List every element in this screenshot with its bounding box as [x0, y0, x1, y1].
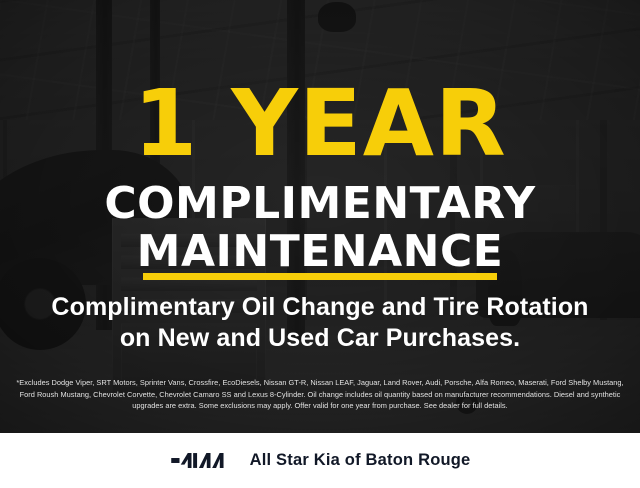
- footer-brand-group: All Star Kia of Baton Rouge: [170, 450, 471, 471]
- headline-secondary: COMPLIMENTARY MAINTENANCE: [0, 180, 640, 276]
- promotional-banner: 1 YEAR COMPLIMENTARY MAINTENANCE Complim…: [0, 0, 640, 488]
- subheadline: Complimentary Oil Change and Tire Rotati…: [0, 292, 640, 354]
- dealer-name: All Star Kia of Baton Rouge: [250, 451, 471, 470]
- headline-primary: 1 YEAR: [0, 78, 640, 170]
- subheadline-line-1: Complimentary Oil Change and Tire Rotati…: [51, 293, 588, 321]
- accent-divider-rule: [143, 273, 497, 280]
- headline-secondary-line-1: COMPLIMENTARY: [104, 178, 535, 229]
- footer-bar: All Star Kia of Baton Rouge: [0, 433, 640, 488]
- headline-secondary-line-2: MAINTENANCE: [0, 228, 640, 276]
- kia-logo-icon: [170, 450, 232, 471]
- banner-content: 1 YEAR COMPLIMENTARY MAINTENANCE Complim…: [0, 0, 640, 433]
- disclaimer-text: *Excludes Dodge Viper, SRT Motors, Sprin…: [14, 377, 626, 412]
- subheadline-line-2: on New and Used Car Purchases.: [0, 323, 640, 354]
